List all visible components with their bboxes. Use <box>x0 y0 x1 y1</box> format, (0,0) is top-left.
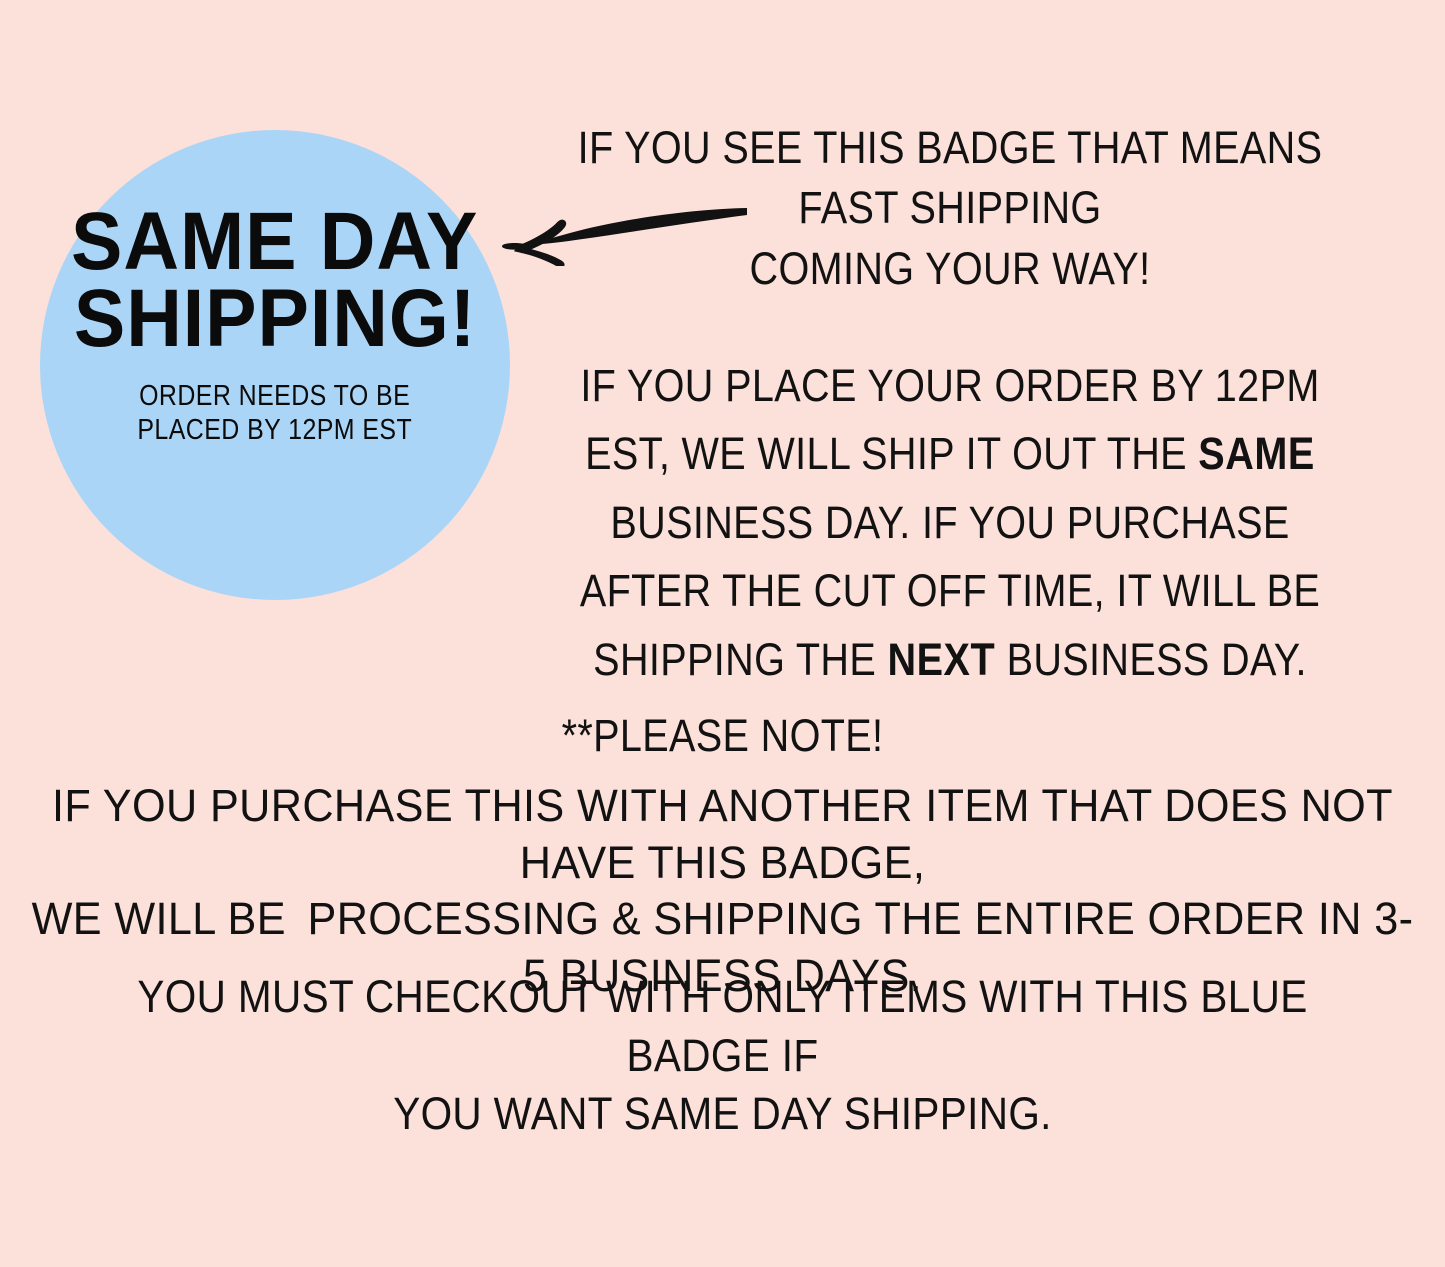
please-note-line-1: IF YOU PURCHASE THIS WITH ANOTHER ITEM T… <box>52 780 1393 888</box>
checkout-note: YOU MUST CHECKOUT WITH ONLY ITEMS WITH T… <box>72 968 1373 1144</box>
badge-title-line-2: SHIPPING! <box>74 285 476 354</box>
please-note-gap <box>286 893 308 944</box>
badge-subtitle-line-1: ORDER NEEDS TO BE <box>139 380 410 412</box>
cutoff-emphasis-same: SAME <box>1198 428 1315 479</box>
shipping-info-poster: SAME DAY SHIPPING! ORDER NEEDS TO BE PLA… <box>0 0 1445 1267</box>
checkout-note-line-1: YOU MUST CHECKOUT WITH ONLY ITEMS WITH T… <box>137 971 1307 1081</box>
cutoff-part-3: BUSINESS DAY. <box>995 634 1307 685</box>
cutoff-emphasis-next: NEXT <box>887 634 995 685</box>
headline-text: IF YOU SEE THIS BADGE THAT MEANS FAST SH… <box>554 118 1346 299</box>
badge-subtitle-line-2: PLACED BY 12PM EST <box>138 414 413 446</box>
please-note-line-2-a: WE WILL BE <box>32 893 286 944</box>
headline-line-1: IF YOU SEE THIS BADGE THAT MEANS FAST SH… <box>578 122 1323 233</box>
cutoff-paragraph: IF YOU PLACE YOUR ORDER BY 12PM EST, WE … <box>554 352 1346 694</box>
please-note-heading: **PLEASE NOTE! <box>87 708 1359 765</box>
same-day-shipping-badge: SAME DAY SHIPPING! ORDER NEEDS TO BE PLA… <box>40 130 510 600</box>
checkout-note-line-2: YOU WANT SAME DAY SHIPPING. <box>393 1088 1052 1139</box>
badge-title-line-1: SAME DAY <box>71 208 478 277</box>
headline-line-2: COMING YOUR WAY! <box>750 243 1151 294</box>
